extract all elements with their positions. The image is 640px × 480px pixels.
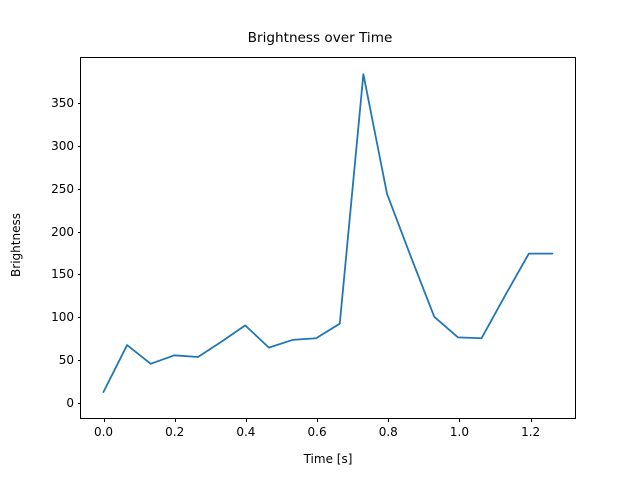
y-tick-mark: [78, 146, 82, 147]
x-tick-mark: [104, 418, 105, 422]
x-tick-label: 1.2: [521, 425, 540, 439]
brightness-line: [103, 74, 552, 392]
x-tick-mark: [175, 418, 176, 422]
x-tick-mark: [246, 418, 247, 422]
x-tick-mark: [531, 418, 532, 422]
page-title: Brightness over Time: [0, 30, 640, 46]
y-tick-mark: [78, 274, 82, 275]
y-tick-label: 200: [51, 225, 74, 239]
y-tick-label: 150: [51, 267, 74, 281]
x-tick-label: 0.6: [308, 425, 327, 439]
y-tick-mark: [78, 232, 82, 233]
y-tick-mark: [78, 189, 82, 190]
y-tick-label: 250: [51, 182, 74, 196]
y-tick-mark: [78, 317, 82, 318]
figure-canvas: Brightness over Time 0501001502002503003…: [0, 0, 640, 480]
x-tick-mark: [459, 418, 460, 422]
y-tick-label: 350: [51, 96, 74, 110]
y-tick-label: 300: [51, 139, 74, 153]
x-tick-label: 0.4: [236, 425, 255, 439]
x-tick-label: 0.2: [165, 425, 184, 439]
x-tick-label: 0.0: [94, 425, 113, 439]
plot-axes: 0501001502002503003500.00.20.40.60.81.01…: [80, 57, 576, 419]
y-tick-mark: [78, 360, 82, 361]
x-tick-label: 0.8: [379, 425, 398, 439]
x-tick-mark: [388, 418, 389, 422]
y-tick-label: 0: [66, 396, 74, 410]
x-tick-mark: [317, 418, 318, 422]
line-series-svg: [81, 58, 575, 418]
x-axis-label: Time [s]: [80, 452, 576, 466]
y-axis-label: Brightness: [9, 145, 23, 345]
y-tick-label: 100: [51, 310, 74, 324]
y-tick-mark: [78, 103, 82, 104]
x-tick-label: 1.0: [450, 425, 469, 439]
y-tick-mark: [78, 403, 82, 404]
y-tick-label: 50: [59, 353, 74, 367]
